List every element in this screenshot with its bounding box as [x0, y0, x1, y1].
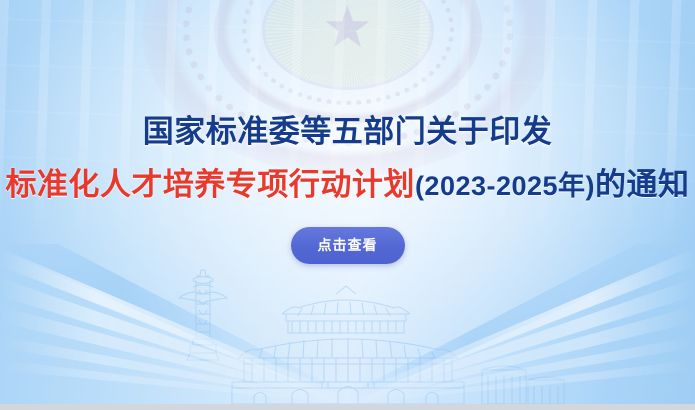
cta-container: 点击查看	[0, 227, 695, 264]
banner-title-year-range: (2023-2025年)	[415, 171, 595, 201]
footer-strip	[0, 404, 695, 410]
huabiao-column-icon	[179, 270, 227, 360]
policy-banner: 国家标准委等五部门关于印发 标准化人才培养专项行动计划(2023-2025年)的…	[0, 0, 695, 410]
banner-title-suffix: 的通知	[595, 167, 690, 202]
banner-title-line-2: 标准化人才培养专项行动计划(2023-2025年)的通知	[0, 169, 695, 200]
banner-content: 国家标准委等五部门关于印发 标准化人才培养专项行动计划(2023-2025年)的…	[0, 0, 695, 264]
diagonal-light-streaks	[0, 244, 695, 404]
view-detail-button[interactable]: 点击查看	[291, 227, 405, 264]
banner-title-line-1: 国家标准委等五部门关于印发	[0, 116, 695, 147]
tiananmen-gate-illustration	[0, 264, 695, 404]
banner-title-plan-name: 标准化人才培养专项行动计划	[5, 167, 415, 202]
